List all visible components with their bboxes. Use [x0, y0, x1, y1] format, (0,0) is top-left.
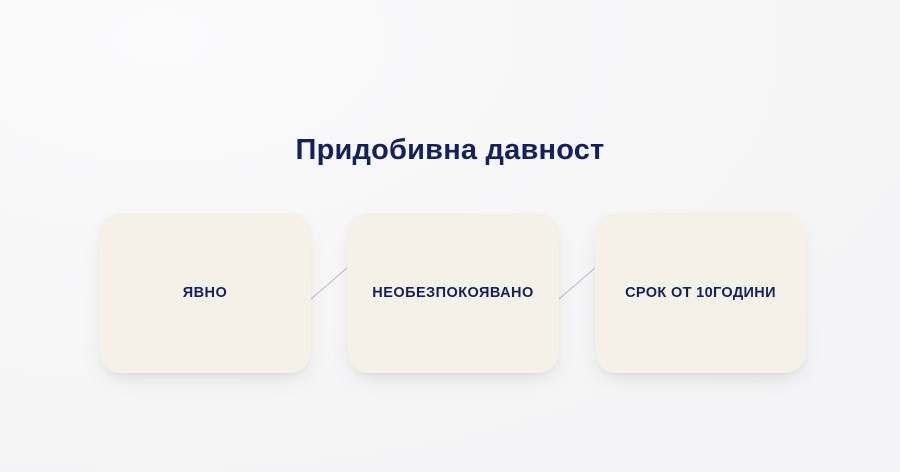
slide-canvas: Придобивна давност ЯВНО НЕОБЕЗПОКОЯВАНО …	[0, 0, 900, 472]
flow-node-1[interactable]: ЯВНО	[99, 213, 311, 373]
title-container: Придобивна давност	[0, 114, 900, 188]
page-title: Придобивна давност	[296, 133, 605, 168]
flow-node-3[interactable]: СРОК ОТ 10ГОДИНИ	[595, 213, 806, 373]
flow-node-2[interactable]: НЕОБЕЗПОКОЯВАНО	[347, 213, 559, 373]
flow-node-1-label: ЯВНО	[183, 284, 227, 302]
flow-diagram: ЯВНО НЕОБЕЗПОКОЯВАНО СРОК ОТ 10ГОДИНИ	[0, 213, 900, 378]
flow-node-2-label: НЕОБЕЗПОКОЯВАНО	[372, 284, 533, 302]
flow-node-3-label: СРОК ОТ 10ГОДИНИ	[625, 284, 776, 302]
